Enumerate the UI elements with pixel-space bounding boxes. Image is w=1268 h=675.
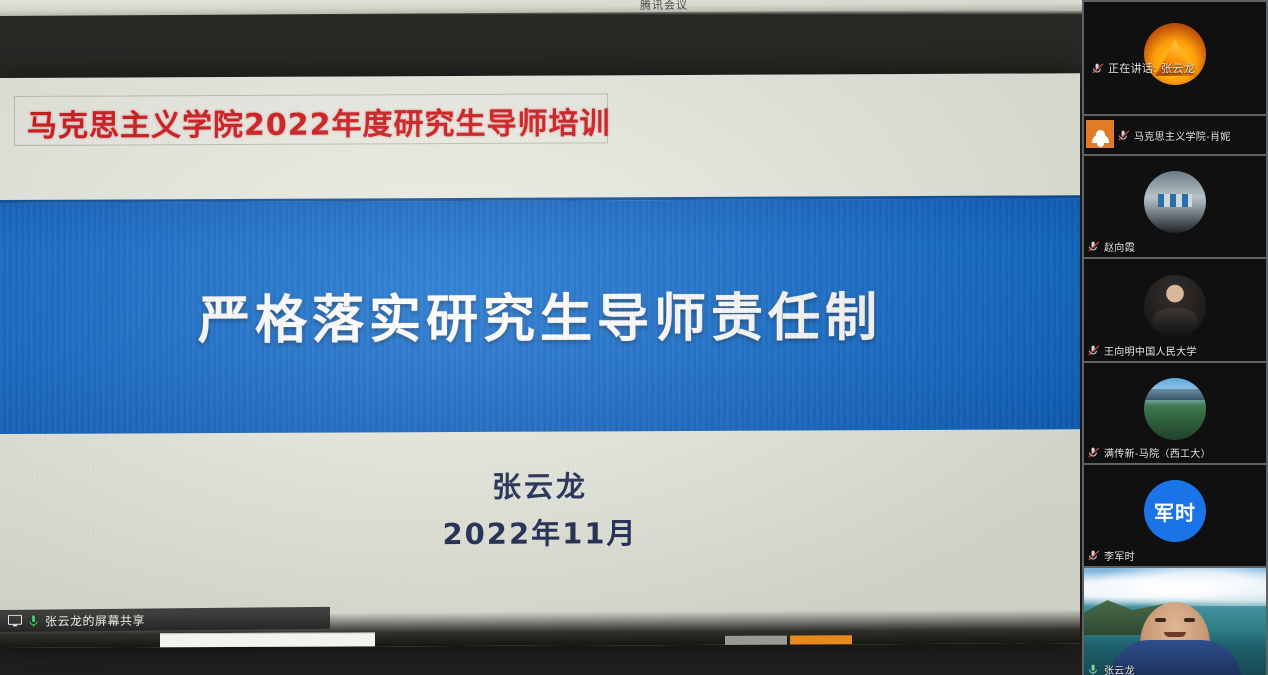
user-avatar-icon: [1086, 120, 1114, 148]
participant-name-row: 满传新-马院（西工大）: [1088, 445, 1211, 460]
monitor-icon: [8, 615, 22, 627]
participant-label: 马克思主义学院-肖妮: [1134, 128, 1231, 143]
slide-header-box: 马克思主义学院2022年度研究生导师培训: [14, 93, 608, 146]
slide-presenter-name: 张云龙: [0, 461, 1080, 508]
taskbar-item-gray[interactable]: [725, 636, 787, 645]
slide-blue-banner: 严格落实研究生导师责任制: [0, 195, 1080, 434]
participant-name-row: 张云龙: [1088, 662, 1135, 675]
participant-name-row: 马克思主义学院-肖妮: [1118, 128, 1231, 143]
participant-name-row: 正在讲话: 张云龙: [1092, 60, 1195, 76]
microphone-muted-icon: [1088, 447, 1100, 458]
taskbar-window-strip[interactable]: [160, 632, 375, 647]
avatar: [1144, 378, 1206, 440]
screen-share-indicator: 张云龙的屏幕共享: [0, 607, 330, 632]
microphone-muted-icon: [1088, 241, 1100, 252]
slide-canvas: 马克思主义学院2022年度研究生导师培训 严格落实研究生导师责任制 张云龙 20…: [0, 73, 1080, 648]
microphone-muted-icon: [1088, 345, 1100, 356]
microphone-muted-icon: [1118, 130, 1130, 141]
participant-tile[interactable]: 马克思主义学院-肖妮: [1084, 116, 1266, 154]
participant-label: 王向明中国人民大学: [1104, 343, 1197, 358]
avatar-initials: 军时: [1144, 480, 1206, 542]
participant-tile[interactable]: 军时 李军时: [1084, 465, 1266, 566]
slide-header-title: 马克思主义学院2022年度研究生导师培训: [27, 98, 611, 145]
participant-label: 赵向霞: [1104, 239, 1135, 254]
participant-name-row: 赵向霞: [1088, 239, 1135, 254]
participant-name-row: 李军时: [1088, 548, 1135, 563]
meeting-screen: 腾讯会议 马克思主义学院2022年度研究生导师培训 严格落实研究生导师责任制 张…: [0, 0, 1268, 675]
participant-tile[interactable]: 满传新-马院（西工大）: [1084, 363, 1266, 463]
taskbar-item-orange[interactable]: [790, 635, 852, 644]
screen-share-label: 张云龙的屏幕共享: [45, 611, 145, 629]
participant-name-row: 王向明中国人民大学: [1088, 343, 1197, 358]
participant-tile[interactable]: 正在讲话: 张云龙: [1084, 2, 1266, 114]
slide-main-title: 严格落实研究生导师责任制: [0, 274, 1080, 354]
participant-label: 张云龙: [1104, 662, 1135, 675]
app-title: 腾讯会议: [640, 0, 688, 13]
participant-tile[interactable]: 赵向霞: [1084, 156, 1266, 257]
microphone-muted-icon: [1088, 550, 1100, 561]
avatar: [1144, 171, 1206, 233]
self-view-tile[interactable]: 张云龙: [1084, 568, 1266, 675]
participant-label: 满传新-马院（西工大）: [1104, 445, 1211, 460]
participant-label: 李军时: [1104, 548, 1135, 563]
self-video: [1084, 568, 1266, 675]
participant-strip: 正在讲话: 张云龙 马克思主义学院-肖妮: [1082, 0, 1268, 675]
participant-label: 正在讲话: 张云龙: [1108, 60, 1195, 76]
microphone-active-icon: [1088, 664, 1100, 675]
microphone-icon: [29, 614, 38, 627]
microphone-muted-icon: [1092, 63, 1104, 74]
shared-screen-slide[interactable]: 马克思主义学院2022年度研究生导师培训 严格落实研究生导师责任制 张云龙 20…: [0, 73, 1080, 648]
slide-date: 2022年11月: [0, 508, 1080, 555]
participant-tile[interactable]: 王向明中国人民大学: [1084, 259, 1266, 361]
avatar: [1144, 275, 1206, 337]
